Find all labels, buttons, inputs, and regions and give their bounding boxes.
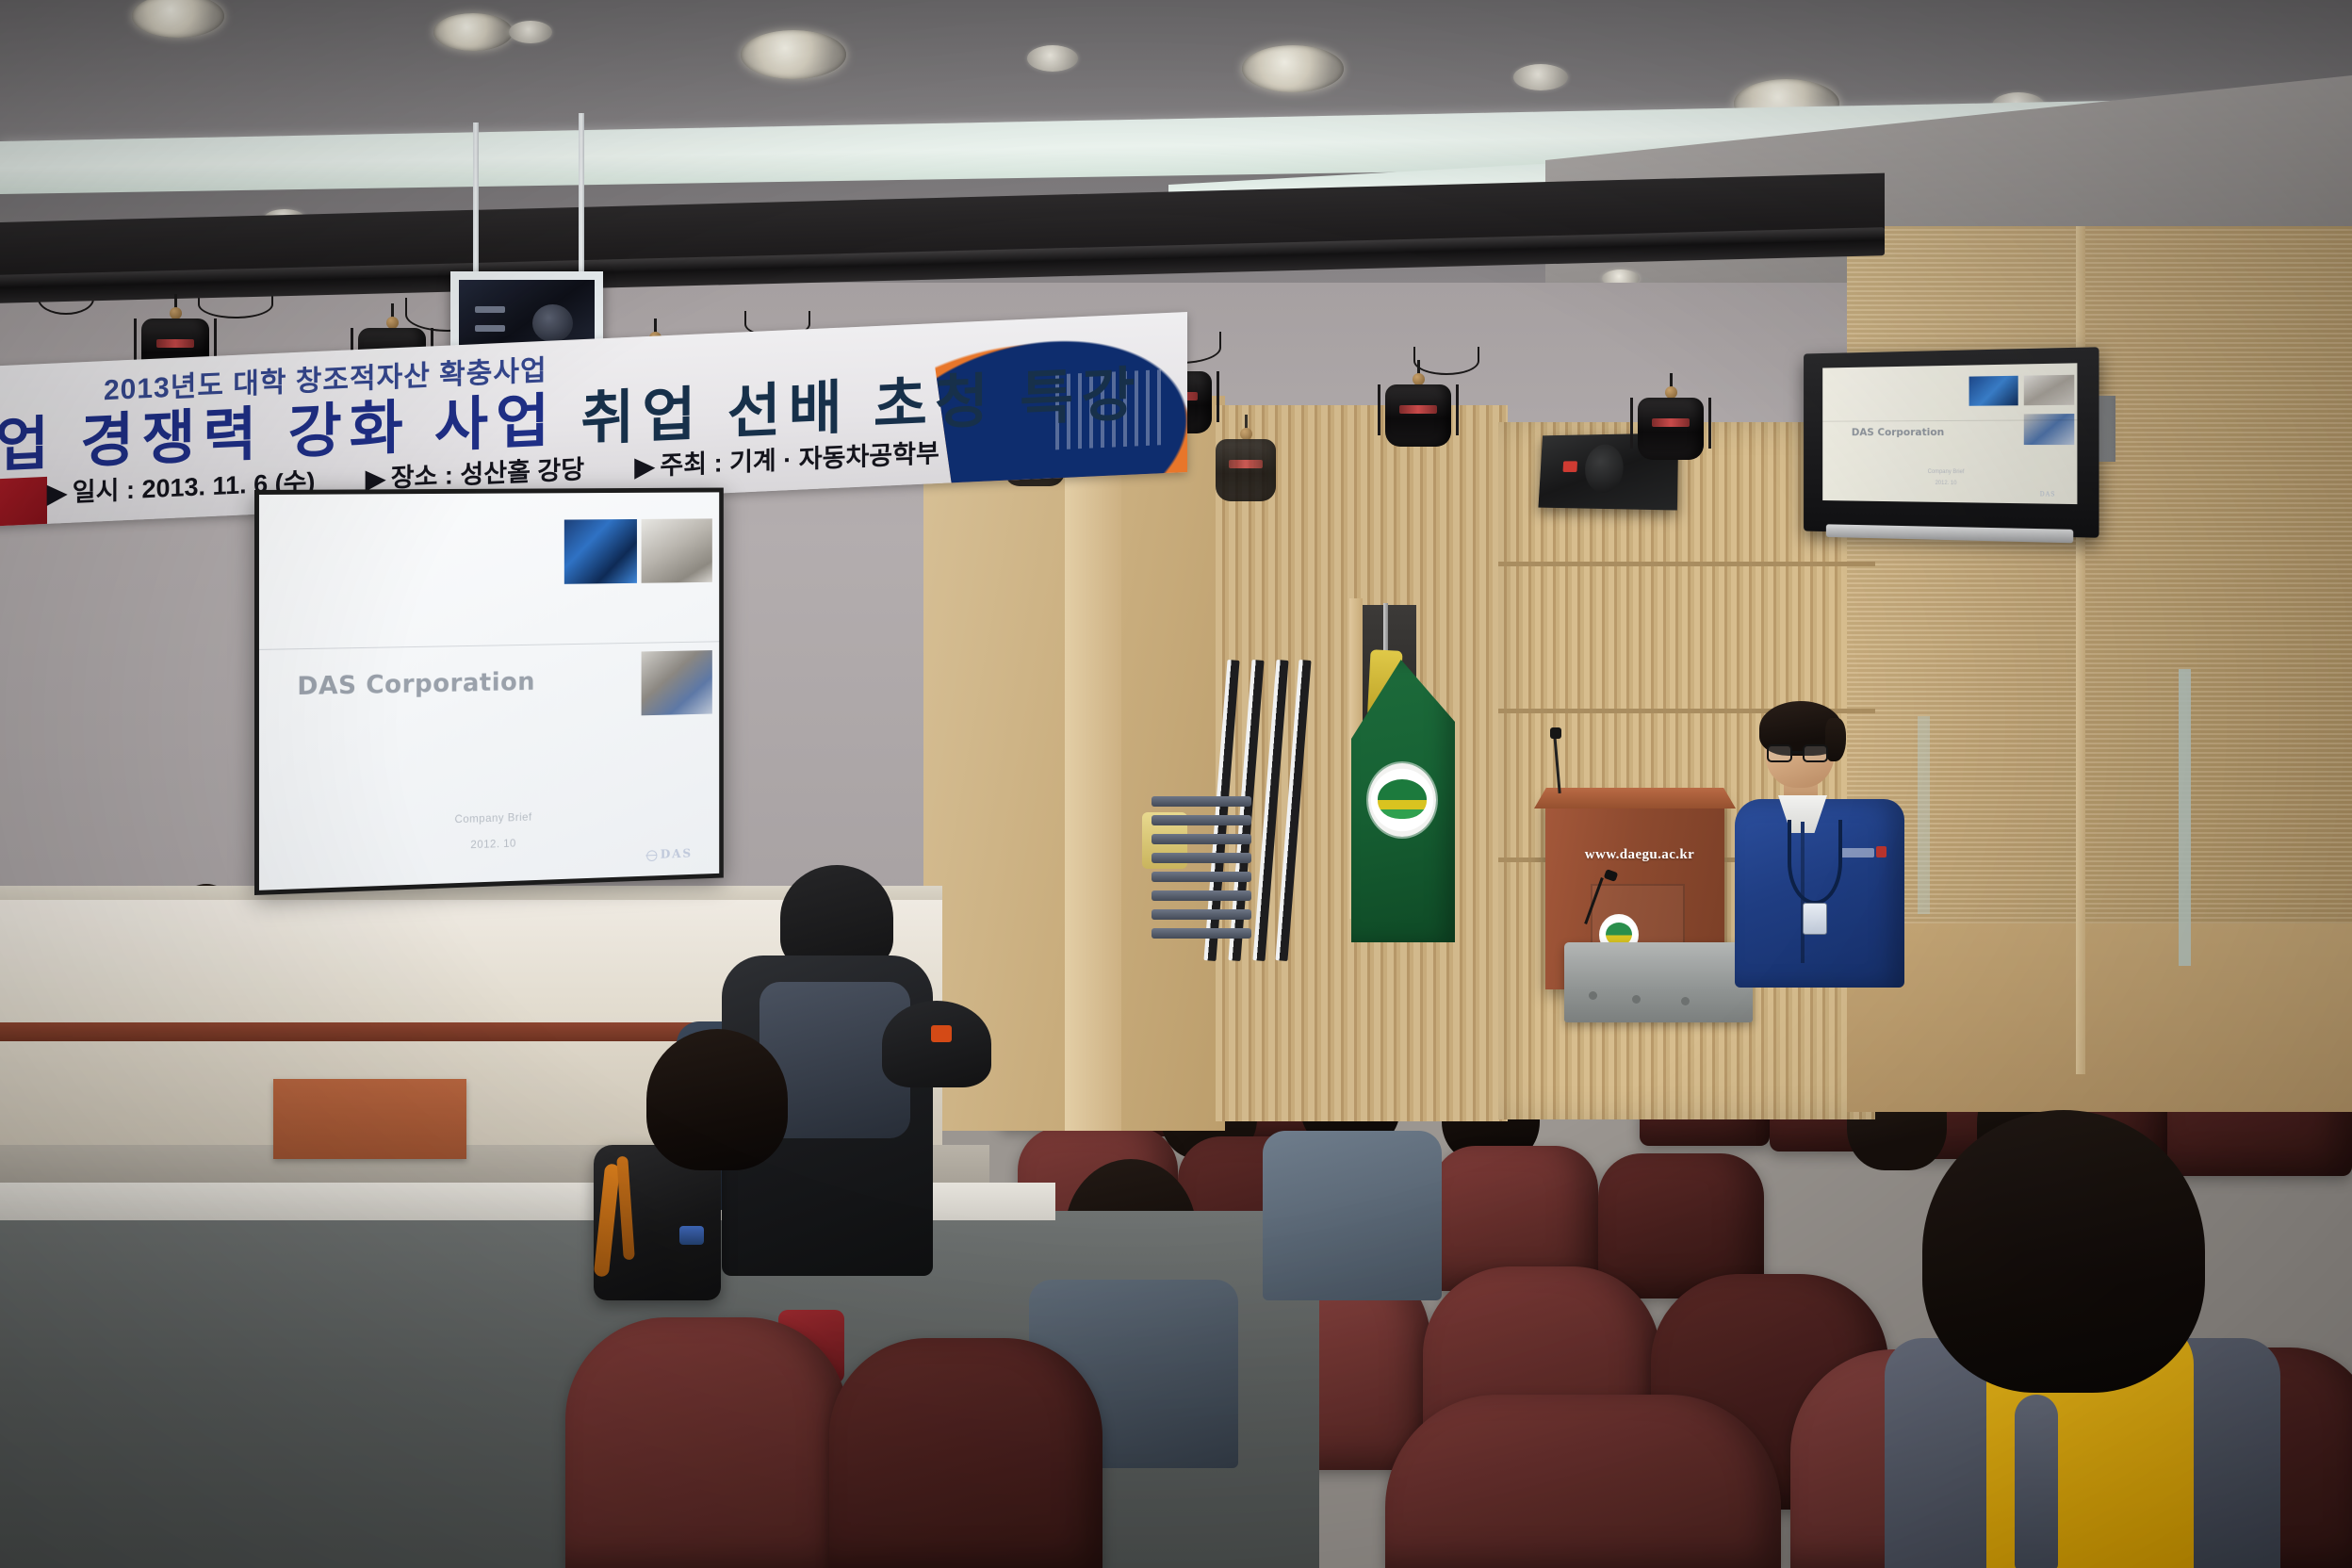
audience-torso [1263, 1131, 1442, 1300]
foreground-audience-head [1922, 1110, 2205, 1393]
par-stage-light-icon [1638, 373, 1704, 465]
tv-slide-photo-3 [2024, 414, 2075, 445]
slide-divider-line [259, 641, 719, 650]
par-stage-light-icon [1216, 415, 1276, 499]
wall-vertical-accent-strip [1918, 716, 1930, 914]
presenter-jacket-red-mark [1876, 846, 1886, 857]
right-wall-base [1847, 923, 2352, 1112]
presentation-slide: DAS Corporation Company Brief 2012. 10 D… [259, 492, 719, 890]
auditorium-scene: 2013년도 대학 창조적자산 확충사업 취업 경쟁력 강화 사업 취업 선배 … [0, 0, 2352, 1568]
cap-logo-icon [931, 1025, 952, 1042]
eyeglasses-icon [1767, 744, 1831, 763]
stacked-folding-chairs [1151, 796, 1255, 952]
presenter-jacket-logo [1840, 848, 1874, 857]
banner-host-group: ▶주최 : 기계 · 자동차공학부 [635, 439, 939, 482]
banner-corner-accent [0, 477, 47, 528]
banner-place-label: 장소 : [391, 461, 453, 492]
auditorium-seat [565, 1317, 848, 1568]
wood-wall-pilaster [1065, 396, 1121, 1131]
tv-slide-logo: DAS [2040, 491, 2056, 498]
foreground-audience-head [646, 1029, 788, 1170]
par-stage-light-icon [1385, 360, 1451, 452]
audience-cap-hat [882, 1001, 991, 1087]
banner-place-value: 성산홀 강당 [460, 455, 584, 489]
downlight-icon [433, 13, 513, 51]
tv-slide-photo-1 [1968, 375, 2018, 406]
bullet-triangle-icon: ▶ [47, 479, 67, 508]
microphone-icon [1550, 727, 1561, 739]
auditorium-seat [829, 1338, 1102, 1568]
id-badge [1803, 903, 1827, 935]
av-equipment-cart [1564, 942, 1753, 1022]
banner-host-label: 주최 : [660, 449, 722, 480]
slide-logo-text: DAS [661, 847, 693, 862]
downlight-icon [741, 30, 846, 79]
tv-slide-date: 2012. 10 [1822, 480, 2077, 488]
downlight-icon [1027, 45, 1078, 72]
tv-slide-title: DAS Corporation [1852, 426, 1944, 438]
tv-slide-subtitle: Company Brief [1822, 468, 2077, 476]
slide-subtitle: Company Brief [259, 805, 719, 832]
banner-date-label: 일시 : [73, 476, 135, 507]
tv-slide-photo-2 [2024, 374, 2075, 405]
slat-wall-seam [1498, 562, 1875, 566]
downlight-icon [1242, 45, 1344, 92]
globe-icon [646, 850, 657, 861]
podium-top-surface [1534, 788, 1736, 808]
bullet-triangle-icon: ▶ [635, 452, 655, 482]
downlight-icon [1513, 64, 1568, 90]
projection-screen: DAS Corporation Company Brief 2012. 10 D… [254, 488, 724, 895]
flag-emblem-icon [1368, 763, 1436, 837]
wall-vertical-accent-strip [2179, 669, 2191, 966]
slide-photo-seat [641, 519, 712, 583]
auditorium-seat [1385, 1395, 1781, 1568]
slide-title: DAS Corporation [297, 667, 535, 701]
slide-photo-gear [641, 650, 712, 715]
slide-logo: DAS [646, 847, 693, 862]
lanyard-cord [1788, 820, 1842, 905]
banner-host-value: 기계 · 자동차공학부 [729, 439, 939, 477]
tv-screen: DAS Corporation Company Brief 2012. 10 D… [1822, 363, 2077, 504]
podium-url-text: www.daegu.ac.kr [1555, 847, 1724, 863]
slide-photo-engine [564, 519, 637, 583]
foreground-hoodie-gray-stripe [2015, 1395, 2058, 1568]
downlight-icon [509, 21, 552, 43]
wall-tv-monitor: DAS Corporation Company Brief 2012. 10 D… [1804, 347, 2099, 537]
stage-step-block [273, 1079, 466, 1159]
